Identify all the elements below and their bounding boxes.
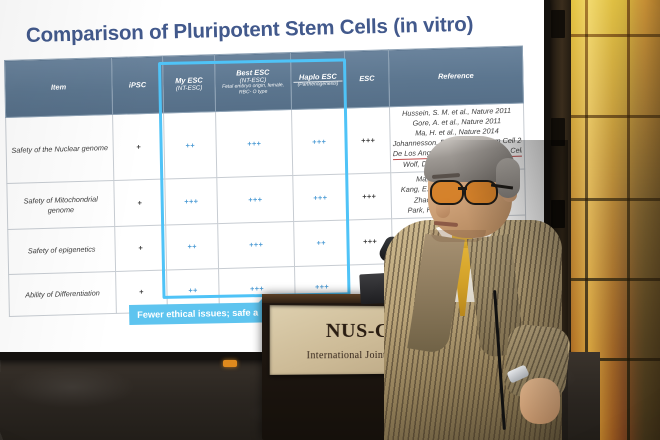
col-header-ipsc: iPSC [111,56,163,114]
wall-notch [551,10,565,38]
cell-haplo-esc: ++ [294,220,349,267]
cell-my-esc: ++ [166,223,219,270]
cell-ipsc: + [115,225,167,272]
col-header-esc: ESC [344,50,389,108]
cell-best-esc: +++ [216,109,293,177]
cell-item: Ability of Differentiation [9,271,117,316]
speaker-person [378,140,568,440]
speaker-hand [520,378,560,424]
col-header-my-esc: My ESC (NT-ESC) [162,55,215,113]
cell-best-esc: +++ [218,221,295,268]
col-header-best-esc: Best ESC (NT-ESC) Fetal embryo origin, f… [214,53,291,112]
cell-best-esc: +++ [217,176,294,223]
glasses-left-lens-icon [430,180,464,205]
speaker-hair-side [496,158,520,198]
cell-item: Safety of epigenetics [8,226,116,274]
cell-item: Safety of Mitochondrial genome [7,181,115,229]
col-header-reference: Reference [388,46,523,107]
cell-my-esc: +++ [165,178,218,225]
cell-ipsc: + [114,179,166,226]
cell-haplo-esc: +++ [292,108,347,176]
col-header-item: Item [5,57,113,117]
col-header-haplo-esc: Haplo ESC (Parthenogenesis) [290,51,345,109]
glasses-bridge [458,187,467,190]
cell-item: Safety of the Nuclear genome [6,114,114,183]
cell-haplo-esc: +++ [293,174,348,221]
speaker-chin-shadow [430,230,486,242]
slide-title: Comparison of Pluripotent Stem Cells (in… [26,11,526,48]
cell-ipsc: + [113,113,165,181]
presentation-photo-stage: Comparison of Pluripotent Stem Cells (in… [0,0,660,440]
screen-power-led-icon [223,360,237,367]
cell-my-esc: ++ [164,112,217,180]
